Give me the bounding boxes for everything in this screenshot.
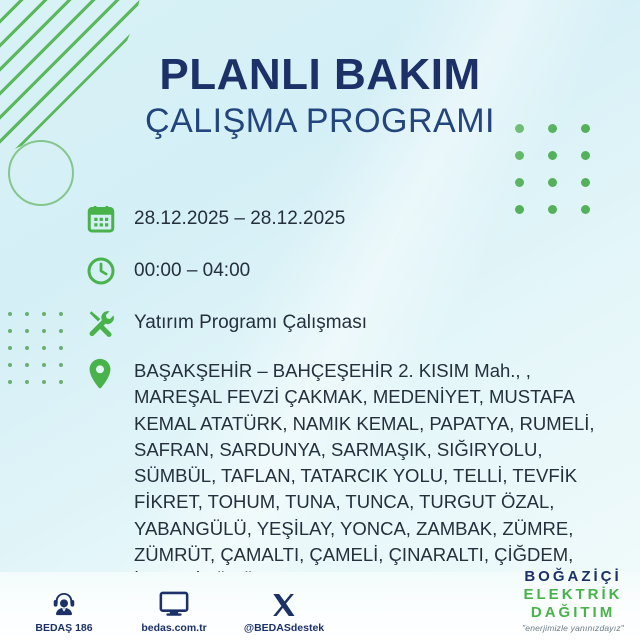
detail-row-time: 00:00 – 04:00 [86,252,612,290]
contact-list: BEDAŞ 186 bedas.com.tr [22,588,326,634]
maintenance-details: 28.12.2025 – 28.12.2025 00:00 – 04:00 Ya… [86,200,612,608]
time-range-text: 00:00 – 04:00 [134,252,250,284]
contact-phone[interactable]: BEDAŞ 186 [22,588,106,634]
brand-tagline: "enerjimizle yanınızdayız" [522,624,624,633]
location-pin-icon [86,356,134,396]
poster-footer: BEDAŞ 186 bedas.com.tr [0,572,640,640]
poster-header: PLANLI BAKIM ÇALIŞMA PROGRAMI [0,52,640,141]
detail-row-date: 28.12.2025 – 28.12.2025 [86,200,612,238]
headset-support-icon [22,588,106,618]
brand-line-3: DAĞITIM [522,605,624,620]
address-text: BAŞAKŞEHİR – BAHÇEŞEHİR 2. KISIM Mah., ,… [134,356,612,594]
planned-maintenance-poster: PLANLI BAKIM ÇALIŞMA PROGRAMI 28 [0,0,640,640]
contact-social-label: @BEDASdestek [242,622,326,634]
dot-grid-decoration-left [8,312,76,397]
work-type-text: Yatırım Programı Çalışması [134,304,367,336]
brand-line-2: ELEKTRİK [522,587,624,602]
contact-website-label: bedas.com.tr [132,622,216,634]
page-subtitle: ÇALIŞMA PROGRAMI [0,102,640,141]
contact-social[interactable]: @BEDASdestek [242,588,326,634]
clock-icon [86,252,134,290]
contact-website[interactable]: bedas.com.tr [132,588,216,634]
detail-row-work-type: Yatırım Programı Çalışması [86,304,612,342]
brand-logo: BOĞAZİÇİ ELEKTRİK DAĞITIM "enerjimizle y… [522,569,624,633]
tools-icon [86,304,134,342]
circle-outline-decoration [8,140,74,206]
detail-row-address: BAŞAKŞEHİR – BAHÇEŞEHİR 2. KISIM Mah., ,… [86,356,612,594]
monitor-website-icon [132,588,216,618]
page-title: PLANLI BAKIM [0,52,640,98]
contact-phone-label: BEDAŞ 186 [22,622,106,634]
brand-line-1: BOĞAZİÇİ [522,569,624,584]
date-range-text: 28.12.2025 – 28.12.2025 [134,200,345,232]
calendar-icon [86,200,134,238]
x-twitter-icon [242,588,326,618]
